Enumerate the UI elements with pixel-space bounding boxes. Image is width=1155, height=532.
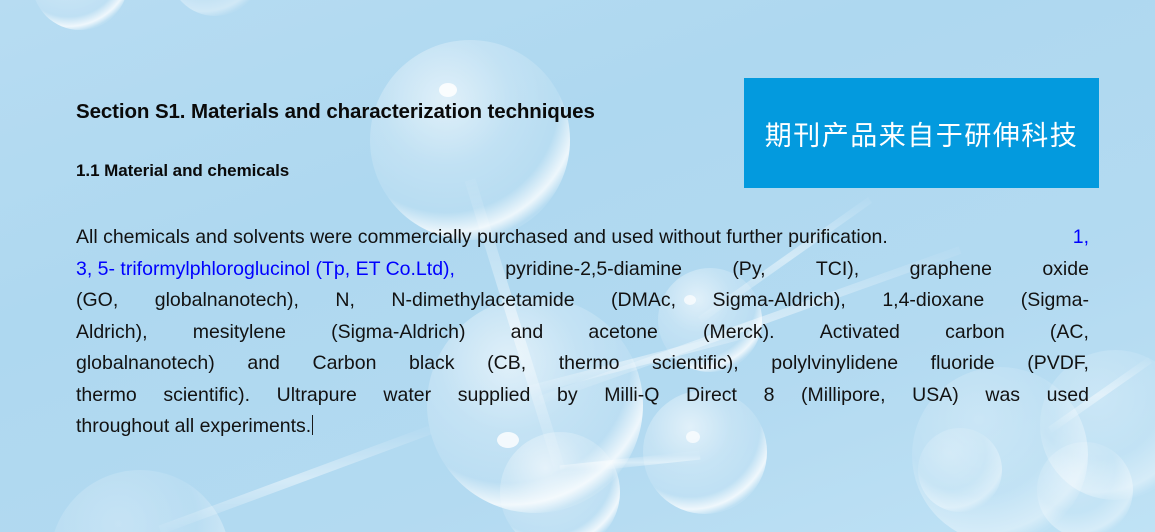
- line-4-w7: carbon: [945, 317, 1005, 349]
- line-5-w6: scientific),: [652, 348, 739, 380]
- watermark-banner: 期刊产品来自于研伸科技: [744, 78, 1099, 188]
- line-2-w2: TCI),: [816, 254, 859, 286]
- line-5-w4: (CB,: [487, 348, 526, 380]
- line-6-w7: Direct: [686, 380, 737, 412]
- line-5-w0: globalnanotech): [76, 348, 215, 380]
- line-3-w0: (GO,: [76, 285, 118, 317]
- line-2-blue: 3, 5- triformylphloroglucinol (Tp, ET Co…: [76, 254, 455, 286]
- line-2-w0: pyridine-2,5-diamine: [505, 254, 682, 286]
- line-2-w3: graphene: [910, 254, 992, 286]
- paragraph-line-1: All chemicals and solvents were commerci…: [76, 222, 1089, 254]
- line-6-w11: was: [985, 380, 1020, 412]
- line-6-w0: thermo: [76, 380, 137, 412]
- line-6-w12: used: [1047, 380, 1089, 412]
- line-4-w3: and: [511, 317, 544, 349]
- body-paragraph: All chemicals and solvents were commerci…: [76, 222, 1089, 443]
- section-heading: Section S1. Materials and characterizati…: [76, 100, 595, 124]
- line-5-w1: and: [247, 348, 280, 380]
- line-5-w5: thermo: [559, 348, 620, 380]
- line-4-w4: acetone: [588, 317, 657, 349]
- line-2-w4: oxide: [1042, 254, 1089, 286]
- line-3-w3: N-dimethylacetamide: [391, 285, 574, 317]
- line-4-w5: (Merck).: [703, 317, 775, 349]
- line-5-w2: Carbon: [312, 348, 376, 380]
- subsection-heading: 1.1 Material and chemicals: [76, 161, 289, 181]
- text-cursor-caret: [312, 415, 313, 435]
- watermark-banner-text: 期刊产品来自于研伸科技: [765, 114, 1079, 153]
- line-6-w8: 8: [764, 380, 775, 412]
- line-6-w2: Ultrapure: [277, 380, 357, 412]
- line-5-w3: black: [409, 348, 455, 380]
- line-3-w6: 1,4-dioxane: [882, 285, 984, 317]
- paragraph-line-4: Aldrich), mesitylene (Sigma-Aldrich) and…: [76, 317, 1089, 349]
- line-7-text: throughout all experiments.: [76, 415, 311, 437]
- document-page: Section S1. Materials and characterizati…: [0, 0, 1155, 532]
- line-3-w5: Sigma-Aldrich),: [713, 285, 846, 317]
- line-5-w7: polylvinylidene: [771, 348, 898, 380]
- paragraph-line-7: throughout all experiments.: [76, 411, 1089, 443]
- line-3-w7: (Sigma-: [1021, 285, 1089, 317]
- line-3-w2: N,: [335, 285, 355, 317]
- paragraph-line-6: thermo scientific). Ultrapure water supp…: [76, 380, 1089, 412]
- line-5-w9: (PVDF,: [1027, 348, 1089, 380]
- line-4-w8: (AC,: [1050, 317, 1089, 349]
- line-6-w10: USA): [912, 380, 959, 412]
- line-6-w9: (Millipore,: [801, 380, 886, 412]
- line-4-w2: (Sigma-Aldrich): [331, 317, 465, 349]
- line-4-w1: mesitylene: [193, 317, 286, 349]
- line-5-w8: fluoride: [931, 348, 995, 380]
- line-3-w1: globalnanotech),: [155, 285, 299, 317]
- line-1-blue-tail: 1,: [1073, 222, 1089, 254]
- paragraph-line-2: 3, 5- triformylphloroglucinol (Tp, ET Co…: [76, 254, 1089, 286]
- paragraph-line-3: (GO, globalnanotech), N, N-dimethylaceta…: [76, 285, 1089, 317]
- line-2-w1: (Py,: [732, 254, 765, 286]
- paragraph-line-5: globalnanotech) and Carbon black (CB, th…: [76, 348, 1089, 380]
- line-3-w4: (DMAc,: [611, 285, 676, 317]
- line-6-w6: Milli-Q: [604, 380, 659, 412]
- line-6-w1: scientific).: [163, 380, 250, 412]
- line-4-w0: Aldrich),: [76, 317, 148, 349]
- line-6-w4: supplied: [458, 380, 531, 412]
- line-6-w3: water: [383, 380, 431, 412]
- line-1-text: All chemicals and solvents were commerci…: [76, 222, 888, 254]
- line-6-w5: by: [557, 380, 578, 412]
- line-4-w6: Activated: [820, 317, 900, 349]
